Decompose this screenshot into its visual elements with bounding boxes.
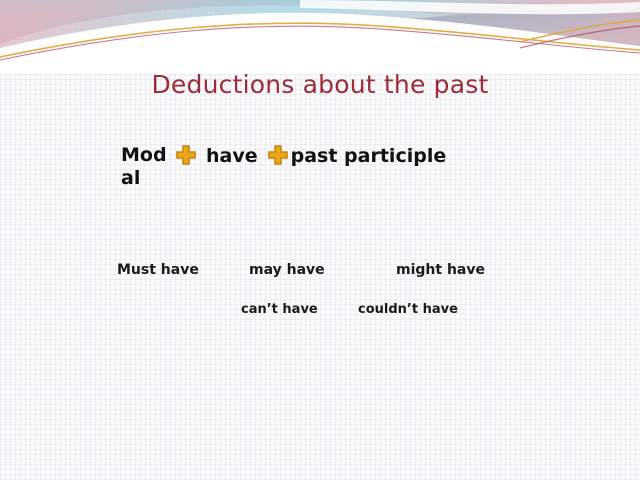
formula-row: Modal have past participle [121, 144, 566, 190]
slide: Deductions about the past Modal have pas… [0, 0, 640, 480]
modal-example-couldnt-have: couldn’t have [358, 302, 458, 317]
formula-term-have: have [206, 145, 258, 167]
modal-example-might-have: might have [396, 262, 485, 278]
modal-example-may-have: may have [249, 262, 325, 278]
plus-icon [267, 144, 289, 166]
page-title: Deductions about the past [0, 70, 640, 100]
modal-example-must-have: Must have [117, 262, 199, 278]
formula-term-modal: Modal [121, 144, 173, 190]
modal-example-cant-have: can’t have [241, 302, 318, 317]
plus-icon [175, 144, 197, 166]
formula-term-past-participle: past participle [291, 145, 447, 167]
decorative-wave-banner [0, 0, 640, 74]
